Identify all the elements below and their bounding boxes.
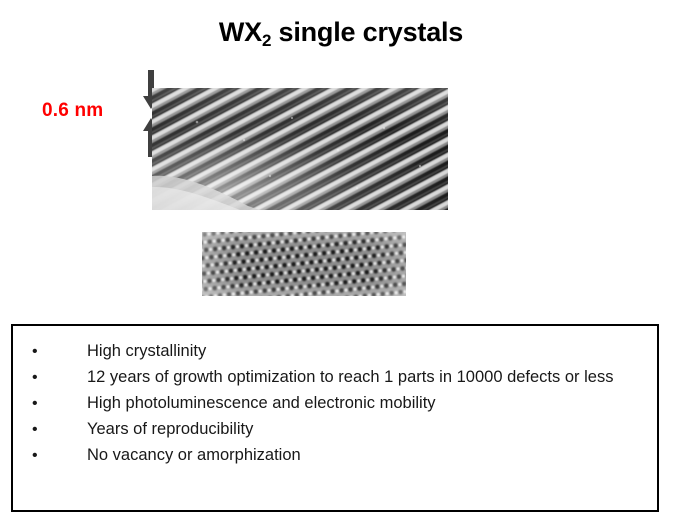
bullet-icon: • bbox=[32, 391, 38, 416]
list-item-label: No vacancy or amorphization bbox=[87, 446, 301, 464]
list-item: • High photoluminescence and electronic … bbox=[13, 391, 657, 416]
tem-cross-section-image bbox=[152, 88, 448, 210]
bullet-icon: • bbox=[32, 339, 38, 364]
list-item-label: High crystallinity bbox=[87, 342, 206, 360]
feature-list-box: • High crystallinity • 12 years of growt… bbox=[11, 324, 659, 512]
bullet-icon: • bbox=[32, 365, 38, 390]
list-item-label: Years of reproducibility bbox=[87, 420, 253, 438]
list-item: • No vacancy or amorphization bbox=[13, 443, 657, 468]
scale-bar-label: 0.6 nm bbox=[42, 100, 103, 122]
list-item: • 12 years of growth optimization to rea… bbox=[13, 365, 657, 390]
tem-plan-view-graphic bbox=[202, 232, 406, 296]
page-title: WX2 single crystals bbox=[0, 17, 682, 48]
list-item: • High crystallinity bbox=[13, 339, 657, 364]
list-item-label: 12 years of growth optimization to reach… bbox=[87, 368, 613, 386]
bullet-icon: • bbox=[32, 443, 38, 468]
tem-cross-section-graphic bbox=[152, 88, 448, 210]
page-title-subscript: 2 bbox=[262, 31, 271, 50]
feature-list: • High crystallinity • 12 years of growt… bbox=[13, 326, 657, 468]
tem-plan-view-image bbox=[202, 232, 406, 296]
list-item: • Years of reproducibility bbox=[13, 417, 657, 442]
page-title-main: WX bbox=[219, 17, 262, 47]
page-title-rest: single crystals bbox=[271, 17, 463, 47]
list-item-label: High photoluminescence and electronic mo… bbox=[87, 394, 436, 412]
bullet-icon: • bbox=[32, 417, 38, 442]
